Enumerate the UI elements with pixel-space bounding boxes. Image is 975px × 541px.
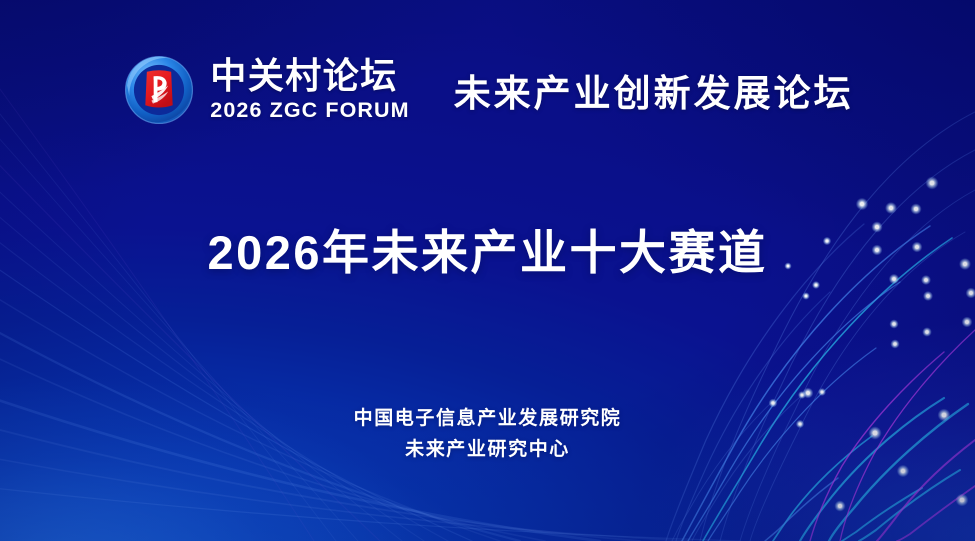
- brand-wordmark: 中关村论坛 2026 ZGC FORUM: [210, 58, 409, 122]
- publisher-credit: 中国电子信息产业发展研究院 未来产业研究中心: [0, 404, 975, 466]
- publisher-department: 未来产业研究中心: [0, 435, 975, 466]
- poster-header: 中关村论坛 2026 ZGC FORUM 未来产业创新发展论坛: [0, 52, 975, 128]
- page-title: 2026年未来产业十大赛道: [0, 214, 975, 283]
- zgc-forum-logo-icon: [121, 52, 197, 128]
- poster-canvas: 中关村论坛 2026 ZGC FORUM 未来产业创新发展论坛 2026年未来产…: [0, 0, 975, 541]
- brand-name-cn: 中关村论坛: [210, 58, 398, 94]
- publisher-org: 中国电子信息产业发展研究院: [0, 404, 975, 435]
- forum-subtitle: 未来产业创新发展论坛: [454, 63, 854, 117]
- poster-content: 中关村论坛 2026 ZGC FORUM 未来产业创新发展论坛 2026年未来产…: [0, 0, 975, 541]
- brand-name-en: 2026 ZGC FORUM: [210, 100, 409, 122]
- brand-lockup: 中关村论坛 2026 ZGC FORUM: [121, 52, 409, 128]
